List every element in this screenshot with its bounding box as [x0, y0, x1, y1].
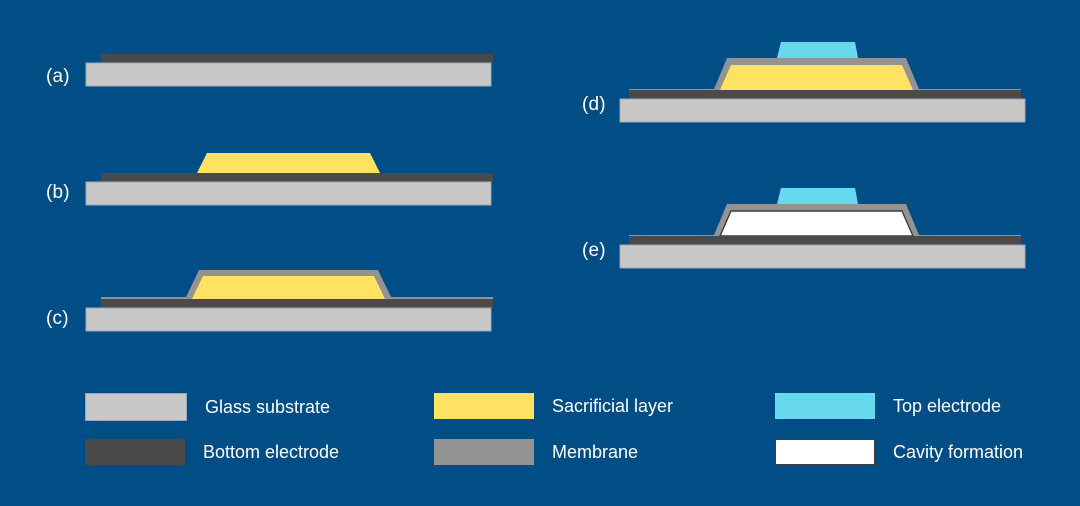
legend-item-top-electrode: Top electrode [775, 393, 1001, 419]
glass-substrate-layer [86, 63, 491, 86]
panel-label-d: (d) [582, 94, 606, 116]
top-electrode-layer [777, 42, 858, 58]
cavity-formation-layer [720, 211, 913, 236]
sacrificial-layer [720, 65, 913, 90]
panel-label-b: (b) [46, 182, 70, 204]
panel-diagram-a [86, 50, 496, 92]
legend-label-cavity-formation: Cavity formation [893, 442, 1023, 463]
panel-label-c: (c) [46, 308, 69, 330]
panel-diagram-b [86, 148, 496, 210]
panel-diagram-c [86, 266, 496, 336]
legend-swatch-membrane [434, 439, 534, 465]
glass-substrate-layer [86, 308, 491, 331]
panel-label-e: (e) [582, 240, 606, 262]
legend-item-cavity-formation: Cavity formation [775, 439, 1023, 465]
panel-diagram-e [620, 184, 1030, 268]
sacrificial-layer [197, 153, 380, 173]
legend-label-sacrificial-layer: Sacrificial layer [552, 396, 673, 417]
legend-item-membrane: Membrane [434, 439, 638, 465]
process-flow-figure: (a) (b) (c) (d) (e) Glass [0, 0, 1080, 506]
glass-substrate-layer [620, 99, 1025, 122]
top-electrode-layer [777, 188, 858, 204]
glass-substrate-layer [620, 245, 1025, 268]
legend-swatch-bottom-electrode [85, 439, 185, 465]
bottom-electrode-layer [101, 299, 493, 308]
legend-label-membrane: Membrane [552, 442, 638, 463]
legend-item-sacrificial-layer: Sacrificial layer [434, 393, 673, 419]
legend-swatch-top-electrode [775, 393, 875, 419]
legend: Glass substrate Bottom electrode Sacrifi… [0, 380, 1080, 480]
bottom-electrode-layer [629, 90, 1021, 99]
legend-item-glass-substrate: Glass substrate [85, 393, 330, 421]
bottom-electrode-layer [101, 54, 493, 63]
legend-item-bottom-electrode: Bottom electrode [85, 439, 339, 465]
panel-label-a: (a) [46, 66, 70, 88]
bottom-electrode-layer [629, 236, 1021, 245]
legend-label-bottom-electrode: Bottom electrode [203, 442, 339, 463]
bottom-electrode-layer [101, 173, 493, 182]
legend-label-glass-substrate: Glass substrate [205, 397, 330, 418]
legend-label-top-electrode: Top electrode [893, 396, 1001, 417]
legend-swatch-cavity-formation [775, 439, 875, 465]
glass-substrate-layer [86, 182, 491, 205]
sacrificial-layer [192, 276, 385, 299]
legend-swatch-sacrificial-layer [434, 393, 534, 419]
panel-diagram-d [620, 38, 1030, 122]
legend-swatch-glass-substrate [85, 393, 187, 421]
